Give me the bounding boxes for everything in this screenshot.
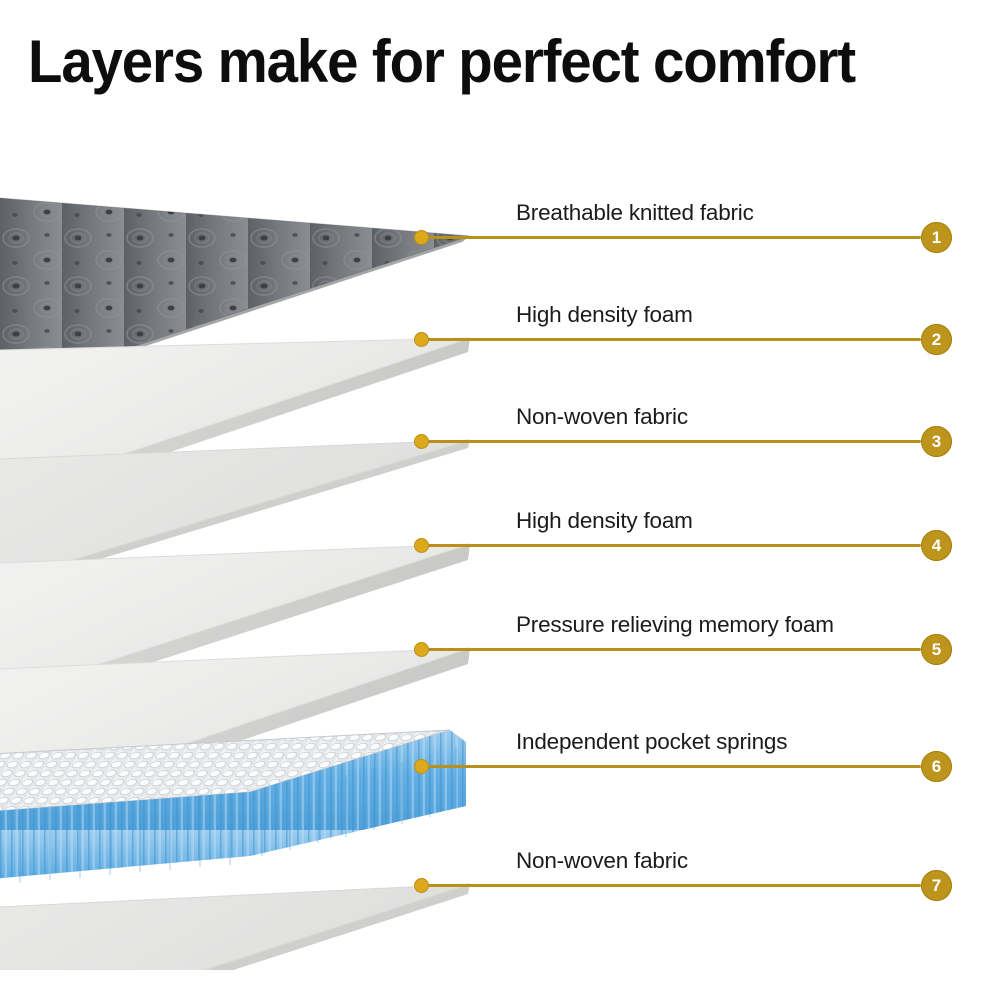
callout-anchor-dot (415, 879, 428, 892)
callout-leader-line (421, 544, 921, 547)
callout-anchor-dot (415, 333, 428, 346)
callout-number-badge[interactable]: 3 (921, 426, 952, 457)
mattress-layers-illustration (0, 130, 620, 970)
callout-leader-line (421, 765, 921, 768)
callout-label: High density foam (516, 508, 693, 534)
callout-number-badge[interactable]: 1 (921, 222, 952, 253)
callout-label: Non-woven fabric (516, 848, 688, 874)
callout-number-badge[interactable]: 2 (921, 324, 952, 355)
page-title: Layers make for perfect comfort (28, 28, 921, 96)
callout-number-badge[interactable]: 7 (921, 870, 952, 901)
callout-leader-line (421, 236, 921, 239)
infographic-canvas: Layers make for perfect comfort (0, 0, 1000, 1000)
callout-anchor-dot (415, 231, 428, 244)
callout-number-badge[interactable]: 4 (921, 530, 952, 561)
callout-leader-line (421, 648, 921, 651)
callout-label: High density foam (516, 302, 693, 328)
callout-label: Breathable knitted fabric (516, 200, 754, 226)
callout-label: Non-woven fabric (516, 404, 688, 430)
callout-leader-line (421, 338, 921, 341)
callout-anchor-dot (415, 760, 428, 773)
callout-leader-line (421, 440, 921, 443)
callout-anchor-dot (415, 539, 428, 552)
callout-anchor-dot (415, 435, 428, 448)
callout-number-badge[interactable]: 5 (921, 634, 952, 665)
callout-leader-line (421, 884, 921, 887)
callout-anchor-dot (415, 643, 428, 656)
callout-label: Independent pocket springs (516, 729, 787, 755)
callout-label: Pressure relieving memory foam (516, 612, 834, 638)
callout-number-badge[interactable]: 6 (921, 751, 952, 782)
